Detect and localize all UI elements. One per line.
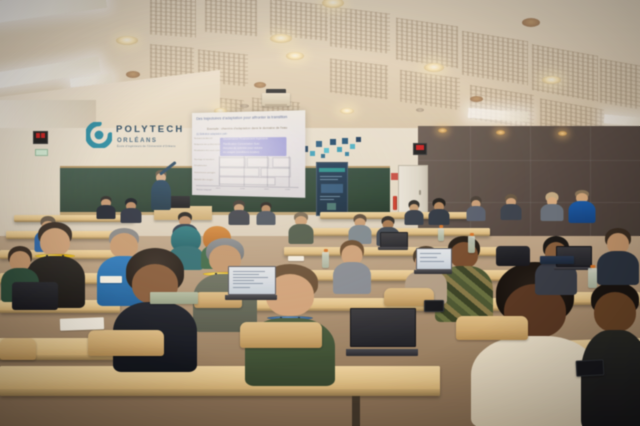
notebook[interactable] (150, 292, 198, 304)
slide-row-label: Réutilisation des eaux usées (194, 150, 220, 152)
papers[interactable] (60, 317, 104, 331)
logo-city: ORLÉANS (117, 138, 158, 144)
slide-axis-label: Horizon temporel (196, 189, 211, 191)
slide-row-label: Réduction des prélèvements (194, 144, 220, 146)
extinguisher-sign (391, 173, 398, 180)
fire-extinguisher (393, 196, 397, 210)
smoke-detector (240, 104, 249, 108)
attendee (596, 228, 640, 282)
ceiling-downlight-off (470, 96, 483, 102)
desk-row-front (0, 366, 440, 396)
slide-caption: (1) Définition adaptation path (196, 132, 251, 136)
ceiling-projector (262, 93, 290, 109)
highlight-line: Planification Concertation Suivi (223, 142, 260, 145)
ceiling-downlight (270, 34, 292, 43)
roll-up-banner (316, 162, 348, 216)
laptop-open[interactable] (350, 308, 414, 356)
papers[interactable] (288, 256, 304, 261)
smartphone[interactable] (576, 359, 605, 376)
ceiling-downlight-off (254, 82, 266, 88)
attendee (288, 212, 314, 242)
attendee (428, 198, 450, 224)
slide-subtitle: Exemple : chemins d'adaptation dans le d… (207, 125, 300, 131)
emergency-exit-sign (35, 149, 48, 156)
presenter-pointing-at-screen (148, 170, 174, 210)
attendee (256, 202, 276, 224)
attendee (228, 200, 250, 224)
attendee (348, 214, 372, 242)
water-bottle[interactable] (468, 236, 475, 253)
smoke-detector (416, 108, 424, 112)
logo-name: POLYTECH (116, 125, 184, 135)
attendee (96, 196, 116, 218)
slide-axis-tick: 2050 (264, 188, 269, 190)
lecture-hall-photo: POLYTECH ORLÉANS École d'ingénieurs de l… (0, 0, 640, 426)
attendee (580, 282, 640, 426)
fire-alarm-call-point (33, 131, 48, 144)
slide-row-label: Scénario tendanciel (194, 138, 212, 140)
skylight-panel (0, 0, 107, 24)
attendee (540, 192, 564, 220)
backpack[interactable] (496, 246, 530, 266)
ceiling-downlight (116, 36, 138, 45)
fire-alarm-call-point (413, 143, 427, 155)
wall-light (558, 131, 567, 136)
slide-row-label: Gouvernance partagée (194, 172, 215, 174)
chair[interactable] (456, 316, 528, 340)
attendee (120, 198, 142, 222)
highlight-line: Mesures de sobriété pour réduire (223, 147, 263, 150)
wall-light (496, 130, 505, 135)
ceiling-downlight (424, 63, 444, 72)
ceiling-downlight (286, 52, 304, 60)
slide-axis-tick: 2040 (240, 188, 245, 190)
backpack[interactable] (12, 282, 58, 310)
water-bottle[interactable] (438, 228, 444, 241)
highlight-line: les usages (conditions locales) (223, 151, 260, 154)
ceiling-downlight-off (126, 71, 140, 78)
projection-screen: Des trajectoires d'adaptation pour affro… (192, 110, 305, 198)
light-panel (604, 114, 640, 126)
slide-highlight-block: Gouvernance Financement Ingénierie Plani… (220, 137, 286, 156)
attendee (332, 240, 372, 292)
ceiling-downlight (340, 108, 354, 114)
attendee (404, 200, 424, 224)
polytech-orleans-logo: POLYTECH ORLÉANS École d'ingénieurs de l… (86, 119, 190, 159)
slide-title: Des trajectoires d'adaptation pour affro… (196, 115, 303, 121)
slide-row-label: Désalinisation (194, 165, 207, 167)
chair[interactable] (88, 330, 164, 356)
laptop-open[interactable] (380, 232, 406, 250)
attendee (500, 194, 522, 220)
logo-tagline: École d'ingénieurs de l'Université d'Orl… (117, 146, 176, 149)
water-bottle[interactable] (322, 252, 329, 268)
laptop-open[interactable] (416, 248, 450, 274)
torso (151, 180, 171, 210)
highlight-line: Gouvernance Financement Ingénierie (223, 138, 268, 141)
chair[interactable] (240, 322, 322, 348)
attendee (568, 190, 596, 222)
wall-light (438, 128, 447, 133)
ceiling-downlight (542, 76, 561, 84)
notebook[interactable] (540, 256, 574, 264)
ceiling-downlight-off (522, 18, 540, 27)
laptop-open[interactable] (228, 266, 274, 300)
desk-row (14, 215, 134, 222)
attendee (466, 196, 486, 220)
slide-axis-tick: 2100 (285, 189, 290, 191)
papers[interactable] (100, 276, 122, 283)
circular-arrow-logo-icon (86, 122, 112, 148)
smartphone[interactable] (424, 300, 444, 312)
water-bottle[interactable] (588, 268, 597, 288)
slide-row-label: Sobriété des usages (194, 179, 213, 181)
chair[interactable] (0, 338, 36, 360)
slide-row-label: Stockage et transferts (194, 159, 214, 161)
slide-axis-tick: 2020 (216, 187, 221, 189)
